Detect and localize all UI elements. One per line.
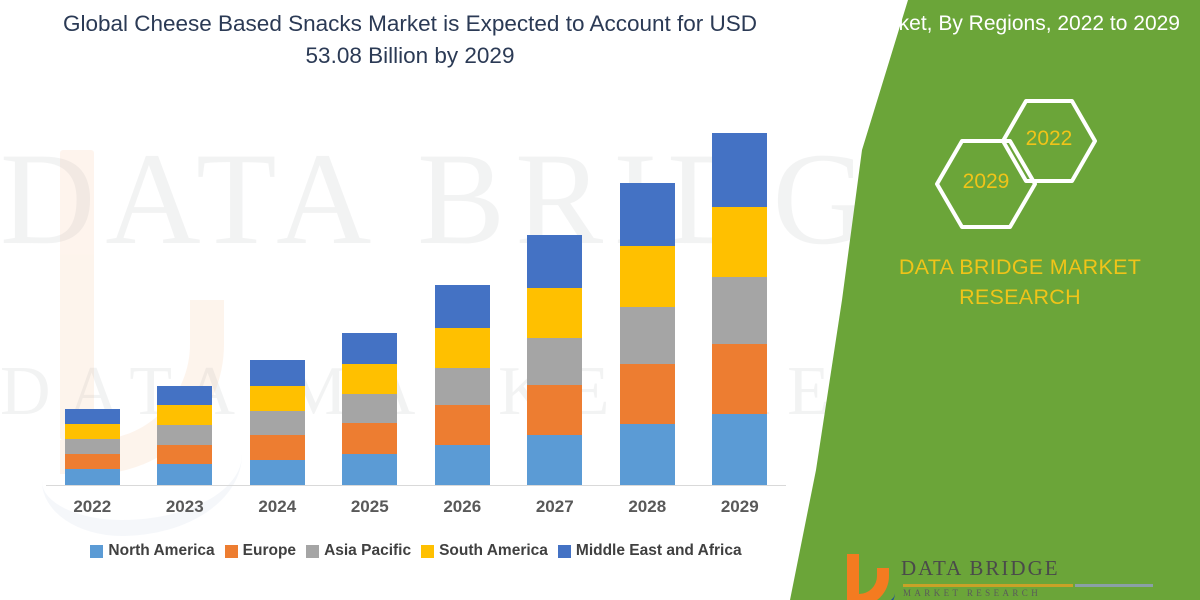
bar-segment [435,405,490,444]
footer-logo: DATA BRIDGE MARKET RESEARCH [845,552,1175,598]
stacked-bar [157,386,212,485]
bar-segment [712,207,767,277]
logo-divider-secondary [1075,584,1153,587]
plot-area [46,110,786,486]
bar-column-2024 [232,110,322,485]
bar-segment [342,454,397,485]
bar-column-2029 [695,110,785,485]
bar-segment [65,424,120,439]
legend-item[interactable]: Europe [225,542,296,560]
bar-segment [620,183,675,247]
stacked-bar [712,133,767,485]
bar-segment [342,394,397,423]
page-title: Global Cheese Based Snacks Market is Exp… [40,8,780,72]
legend-label: Middle East and Africa [576,542,742,560]
infographic-root: DATA BRIDGE DATA MARKET RESEARCH Global … [0,0,1200,600]
stacked-bar [620,183,675,485]
x-axis-tick-2023: 2023 [140,497,230,517]
bar-segment [620,307,675,365]
bar-segment [712,344,767,414]
x-axis: 20222023202420252026202720282029 [46,494,786,520]
bar-column-2025 [325,110,415,485]
bar-segment [250,386,305,411]
bar-segment [620,424,675,485]
chart-panel: DATA BRIDGE DATA MARKET RESEARCH Global … [0,0,880,600]
bar-segment [157,445,212,465]
x-axis-tick-2025: 2025 [325,497,415,517]
bar-segment [712,133,767,207]
legend-label: Asia Pacific [324,542,411,560]
stacked-bar [65,409,120,485]
bar-segment [342,333,397,364]
legend-swatch-icon [558,545,571,558]
legend-swatch-icon [90,545,103,558]
brand-name: DATA BRIDGE MARKET RESEARCH [860,252,1180,312]
bar-segment [65,454,120,469]
bar-segment [342,364,397,395]
bar-segment [527,435,582,485]
legend-label: South America [439,542,548,560]
bar-segment [435,328,490,368]
bar-column-2026 [417,110,507,485]
panel-title: Market, By Regions, 2022 to 2029 [830,8,1180,39]
stacked-bar [250,360,305,485]
logo-text: DATA BRIDGE [901,556,1060,581]
bar-column-2023 [140,110,230,485]
x-axis-tick-2027: 2027 [510,497,600,517]
bar-segment [157,425,212,444]
x-axis-tick-2022: 2022 [47,497,137,517]
bar-segment [527,338,582,385]
bar-segment [435,368,490,406]
bar-segment [250,460,305,485]
x-axis-tick-2026: 2026 [417,497,507,517]
bar-column-2028 [602,110,692,485]
logo-subtitle: MARKET RESEARCH [903,588,1153,598]
stacked-bar [342,333,397,485]
hexagon-2029: 2029 [934,138,1038,230]
bar-segment [157,386,212,406]
legend-swatch-icon [421,545,434,558]
bar-segment [527,288,582,338]
legend-label: Europe [243,542,296,560]
bar-segment [435,445,490,485]
x-axis-tick-2029: 2029 [695,497,785,517]
bar-segment [527,385,582,435]
bar-segment [65,469,120,485]
bar-segment [527,235,582,288]
legend-item[interactable]: North America [90,542,214,560]
bar-segment [712,414,767,485]
axis-baseline [46,485,786,486]
legend-swatch-icon [306,545,319,558]
stacked-bar [527,235,582,485]
bar-segment [157,464,212,485]
bar-segment [620,364,675,424]
bar-segment [250,435,305,460]
legend-item[interactable]: Middle East and Africa [558,542,742,560]
hexagon-group: 2022 2029 [920,98,1120,238]
legend-item[interactable]: Asia Pacific [306,542,411,560]
legend-label: North America [108,542,214,560]
legend-item[interactable]: South America [421,542,548,560]
chart-legend: North AmericaEuropeAsia PacificSouth Ame… [46,538,786,564]
logo-divider [903,584,1073,587]
bar-segment [65,439,120,454]
bar-segment [157,405,212,425]
bar-segment [620,246,675,306]
bar-segment [250,360,305,386]
bar-segment [65,409,120,424]
x-axis-tick-2024: 2024 [232,497,322,517]
bar-column-2022 [47,110,137,485]
legend-swatch-icon [225,545,238,558]
bar-segment [712,277,767,344]
x-axis-tick-2028: 2028 [602,497,692,517]
bar-segment [250,411,305,435]
hexagon-2029-label: 2029 [934,170,1038,194]
bar-segment [435,285,490,327]
bar-group [46,110,786,485]
stacked-bar [435,285,490,485]
bar-column-2027 [510,110,600,485]
data-bridge-bridge-icon [845,554,891,596]
bar-segment [342,423,397,454]
